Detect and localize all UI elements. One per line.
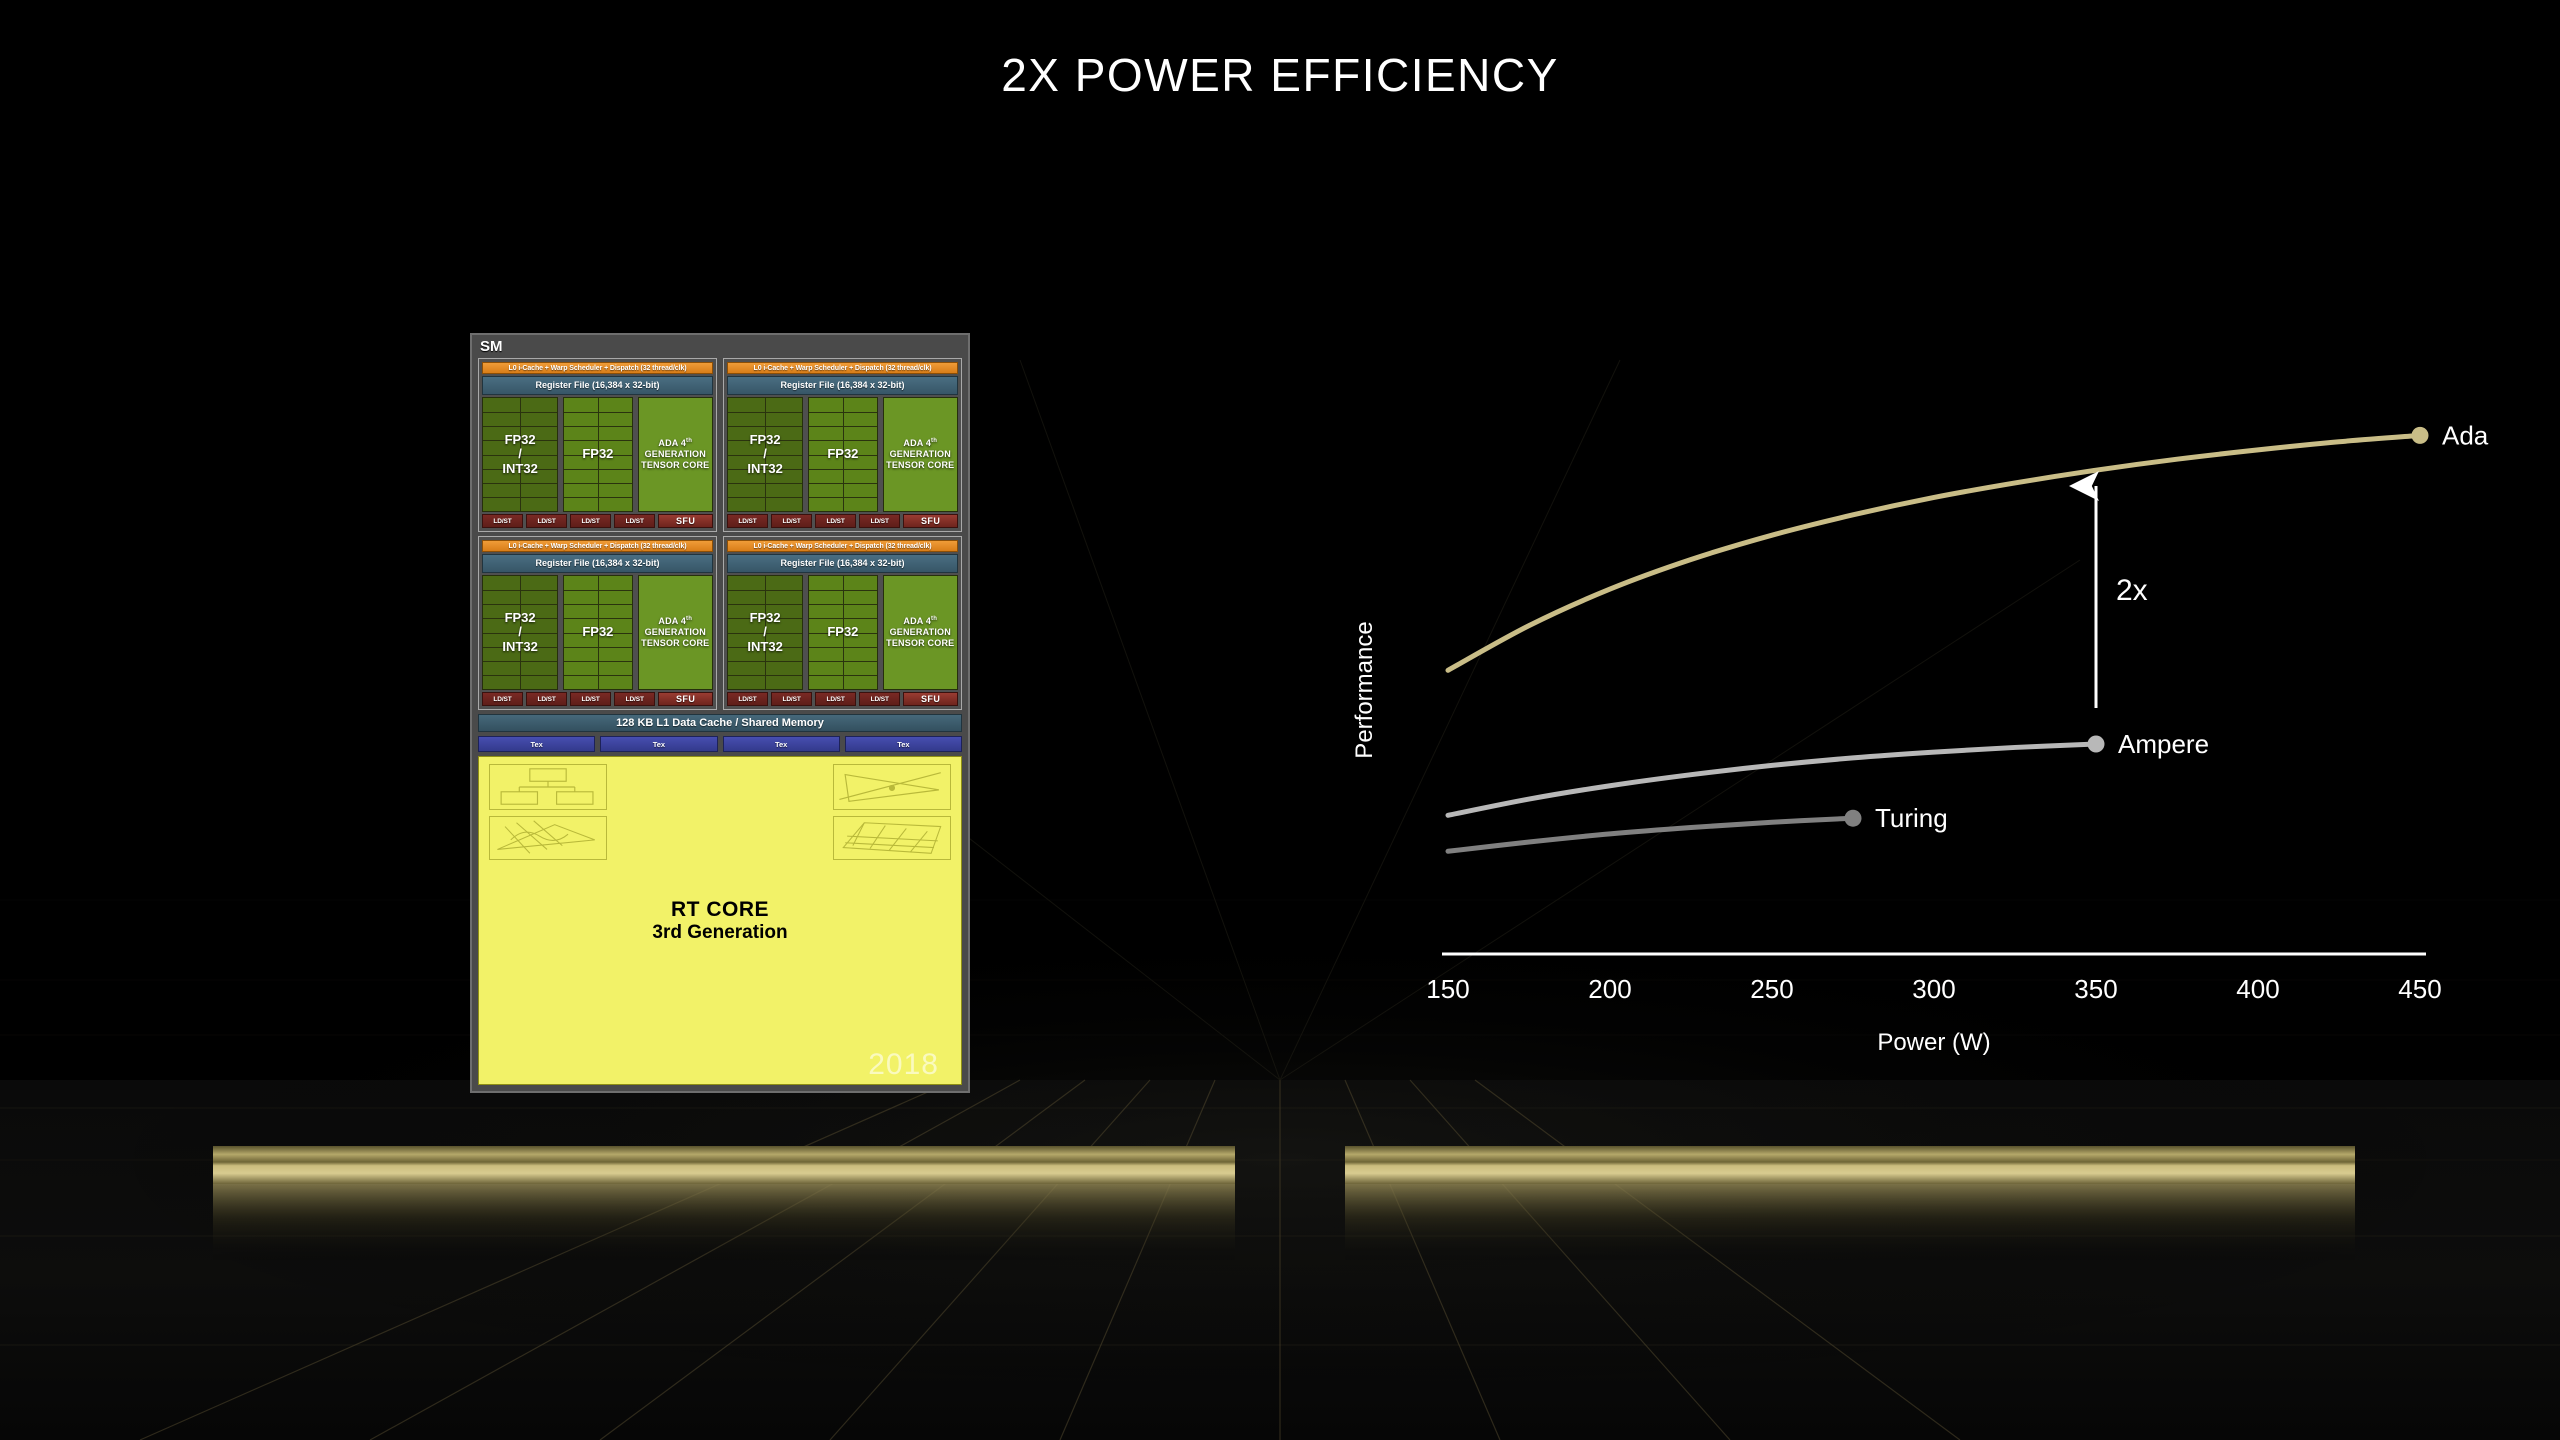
ldst-unit: LD/ST [614, 514, 655, 528]
annotation-2x: 2x [2096, 486, 2148, 708]
x-axis-tick-label: 200 [1588, 974, 1631, 1004]
sfu-unit: SFU [903, 692, 958, 706]
tensor-core-group: ADA 4th GENERATION TENSOR CORE [883, 397, 958, 512]
scheduler-bar: L0 i-Cache + Warp Scheduler + Dispatch (… [482, 362, 713, 374]
ldst-row: LD/STLD/STLD/STLD/STSFU [727, 692, 958, 706]
series-endpoint-marker [1845, 810, 1862, 827]
ldst-row: LD/STLD/STLD/STLD/STSFU [482, 692, 713, 706]
sm-quad-row: L0 i-Cache + Warp Scheduler + Dispatch (… [478, 358, 962, 532]
fp32-int32-label: FP32/INT32 [747, 433, 782, 475]
stage-bar-right [1345, 1146, 2355, 1260]
ldst-unit: LD/ST [526, 692, 567, 706]
sm-processing-block: L0 i-Cache + Warp Scheduler + Dispatch (… [478, 536, 717, 710]
fp32-int32-core-group: FP32/INT32 [727, 575, 803, 690]
sfu-unit: SFU [658, 514, 713, 528]
series-endpoint-marker [2412, 427, 2429, 444]
rt-core-title: RT CORE [652, 898, 787, 922]
scheduler-bar: L0 i-Cache + Warp Scheduler + Dispatch (… [727, 362, 958, 374]
fp32-label: FP32 [827, 625, 858, 639]
rt-thumb-rays [489, 816, 607, 860]
rt-thumb-mesh [833, 816, 951, 860]
tex-unit: Tex [845, 736, 962, 752]
register-file-bar: Register File (16,384 x 32-bit) [727, 554, 958, 573]
ldst-unit: LD/ST [482, 514, 523, 528]
annotation-label: 2x [2116, 574, 2148, 607]
tensor-core-group: ADA 4th GENERATION TENSOR CORE [638, 575, 713, 690]
ldst-unit: LD/ST [771, 514, 812, 528]
x-axis-tick-label: 250 [1750, 974, 1793, 1004]
fp32-int32-label: FP32/INT32 [502, 433, 537, 475]
ldst-unit: LD/ST [570, 514, 611, 528]
core-area: FP32/INT32 FP32 ADA 4th GENERATION TENSO… [727, 397, 958, 512]
scheduler-bar: L0 i-Cache + Warp Scheduler + Dispatch (… [727, 540, 958, 552]
series-line [1448, 818, 1853, 851]
tensor-core-label: ADA 4th GENERATION TENSOR CORE [886, 438, 954, 472]
core-area: FP32/INT32 FP32 ADA 4th GENERATION TENSO… [482, 575, 713, 690]
x-axis-tick-label: 150 [1426, 974, 1469, 1004]
power-efficiency-chart: AdaAmpereTuring2x150200250300350400450Po… [1330, 340, 2450, 1100]
series-label-ada: Ada [2442, 420, 2489, 450]
ldst-unit: LD/ST [570, 692, 611, 706]
ray-trace-icon [490, 817, 606, 859]
tex-row: TexTexTexTex [478, 736, 962, 752]
ldst-row: LD/STLD/STLD/STLD/STSFU [482, 514, 713, 528]
fp32-core-group: FP32 [563, 575, 632, 690]
x-axis-tick-label: 300 [1912, 974, 1955, 1004]
ldst-unit: LD/ST [859, 692, 900, 706]
ldst-unit: LD/ST [727, 514, 768, 528]
sm-processing-block: L0 i-Cache + Warp Scheduler + Dispatch (… [723, 536, 962, 710]
ldst-unit: LD/ST [771, 692, 812, 706]
ldst-row: LD/STLD/STLD/STLD/STSFU [727, 514, 958, 528]
ldst-unit: LD/ST [815, 514, 856, 528]
rt-core-subtitle: 3rd Generation [652, 922, 787, 943]
x-axis-tick-label: 350 [2074, 974, 2117, 1004]
fp32-label: FP32 [827, 447, 858, 461]
series-endpoint-marker [2088, 735, 2105, 752]
core-area: FP32/INT32 FP32 ADA 4th GENERATION TENSO… [727, 575, 958, 690]
fp32-label: FP32 [582, 625, 613, 639]
sm-diagram: SM L0 i-Cache + Warp Scheduler + Dispatc… [470, 333, 970, 1093]
series-turing: Turing [1448, 803, 1948, 851]
scheduler-bar: L0 i-Cache + Warp Scheduler + Dispatch (… [482, 540, 713, 552]
mesh-grid-icon [834, 817, 950, 859]
bvh-tree-icon [490, 765, 606, 809]
rt-thumb-bvh [489, 764, 607, 810]
sm-quad-container: L0 i-Cache + Warp Scheduler + Dispatch (… [478, 358, 962, 714]
core-area: FP32/INT32 FP32 ADA 4th GENERATION TENSO… [482, 397, 713, 512]
tensor-core-group: ADA 4th GENERATION TENSOR CORE [883, 575, 958, 690]
fp32-core-group: FP32 [808, 575, 877, 690]
sm-processing-block: L0 i-Cache + Warp Scheduler + Dispatch (… [478, 358, 717, 532]
stage-bar-left [213, 1146, 1235, 1260]
series-ampere: Ampere [1448, 729, 2209, 815]
rt-thumb-triangle [833, 764, 951, 810]
ldst-unit: LD/ST [859, 514, 900, 528]
tensor-core-label: ADA 4th GENERATION TENSOR CORE [886, 616, 954, 650]
series-label-ampere: Ampere [2118, 729, 2209, 759]
ldst-unit: LD/ST [815, 692, 856, 706]
series-line [1448, 744, 2096, 815]
fp32-int32-core-group: FP32/INT32 [482, 575, 558, 690]
sm-processing-block: L0 i-Cache + Warp Scheduler + Dispatch (… [723, 358, 962, 532]
rt-core-block: RT CORE 3rd Generation 2018 [478, 756, 962, 1085]
page-title: 2X POWER EFFICIENCY [0, 48, 2560, 102]
fp32-int32-label: FP32/INT32 [747, 611, 782, 653]
sm-label: SM [478, 339, 962, 355]
tex-unit: Tex [723, 736, 840, 752]
tensor-core-label: ADA 4th GENERATION TENSOR CORE [641, 438, 709, 472]
series-label-turing: Turing [1875, 803, 1948, 833]
series-line [1448, 435, 2420, 670]
fp32-int32-core-group: FP32/INT32 [482, 397, 558, 512]
x-axis-tick-label: 400 [2236, 974, 2279, 1004]
ldst-unit: LD/ST [614, 692, 655, 706]
fp32-core-group: FP32 [563, 397, 632, 512]
fp32-label: FP32 [582, 447, 613, 461]
tensor-core-group: ADA 4th GENERATION TENSOR CORE [638, 397, 713, 512]
register-file-bar: Register File (16,384 x 32-bit) [482, 376, 713, 395]
rt-core-watermark: 2018 [868, 1048, 939, 1082]
fp32-core-group: FP32 [808, 397, 877, 512]
ldst-unit: LD/ST [526, 514, 567, 528]
l1-cache-bar: 128 KB L1 Data Cache / Shared Memory [478, 714, 962, 732]
chart-svg: AdaAmpereTuring2x150200250300350400450Po… [1330, 340, 2450, 1100]
fp32-int32-core-group: FP32/INT32 [727, 397, 803, 512]
sfu-unit: SFU [903, 514, 958, 528]
series-ada: Ada [1448, 420, 2489, 670]
tex-unit: Tex [478, 736, 595, 752]
tensor-core-label: ADA 4th GENERATION TENSOR CORE [641, 616, 709, 650]
triangle-intersect-icon [834, 765, 950, 809]
x-axis-title: Power (W) [1877, 1029, 1990, 1056]
ldst-unit: LD/ST [482, 692, 523, 706]
y-axis-title: Performance [1351, 621, 1378, 758]
register-file-bar: Register File (16,384 x 32-bit) [482, 554, 713, 573]
register-file-bar: Register File (16,384 x 32-bit) [727, 376, 958, 395]
fp32-int32-label: FP32/INT32 [502, 611, 537, 653]
sfu-unit: SFU [658, 692, 713, 706]
ldst-unit: LD/ST [727, 692, 768, 706]
x-axis-tick-label: 450 [2398, 974, 2441, 1004]
sm-quad-row: L0 i-Cache + Warp Scheduler + Dispatch (… [478, 536, 962, 710]
rt-core-text: RT CORE 3rd Generation [652, 898, 787, 943]
tex-unit: Tex [600, 736, 717, 752]
